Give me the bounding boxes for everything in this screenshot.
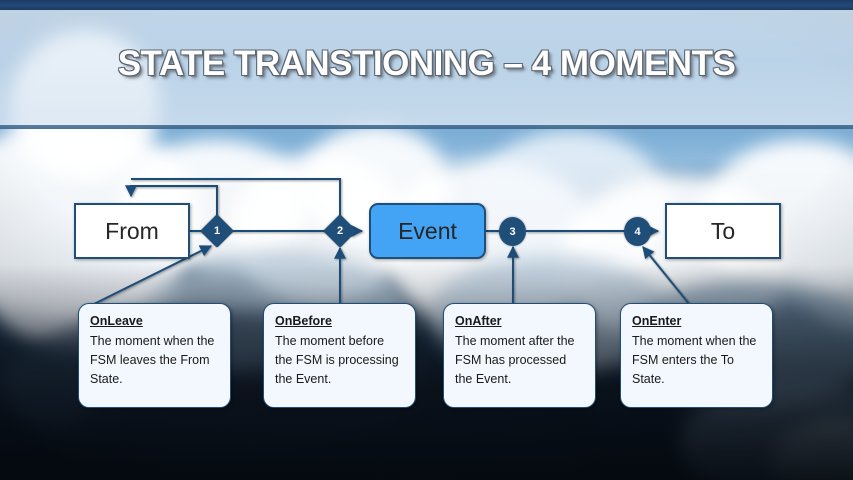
callout-onleave-title: OnLeave (90, 312, 219, 331)
callout-onbefore-title: OnBefore (275, 312, 404, 331)
callout-onafter[interactable]: OnAfter The moment after the FSM has pro… (443, 303, 596, 408)
marker-4-label: 4 (634, 226, 640, 238)
callout-onafter-title: OnAfter (455, 312, 584, 331)
callout-onenter[interactable]: OnEnter The moment when the FSM enters t… (620, 303, 773, 408)
marker-3[interactable]: 3 (499, 217, 526, 246)
callout-onleave[interactable]: OnLeave The moment when the FSM leaves t… (78, 303, 231, 408)
marker-4[interactable]: 4 (624, 217, 651, 246)
marker-3-label: 3 (509, 226, 515, 238)
callout-onbefore[interactable]: OnBefore The moment before the FSM is pr… (263, 303, 416, 408)
marker-1-label: 1 (214, 225, 220, 237)
node-event-label: Event (398, 218, 457, 245)
callout-onenter-body: The moment when the FSM enters the To St… (632, 332, 761, 389)
node-to[interactable]: To (665, 203, 781, 259)
marker-2-label: 2 (337, 225, 343, 237)
callout-onafter-body: The moment after the FSM has processed t… (455, 332, 584, 389)
node-to-label: To (711, 218, 735, 245)
callout-onbefore-body: The moment before the FSM is processing … (275, 332, 404, 389)
node-event[interactable]: Event (369, 203, 486, 259)
node-from-label: From (105, 218, 159, 245)
slide-canvas: STATE TRANSTIONING – 4 MOMENTS (0, 0, 853, 480)
node-from[interactable]: From (74, 203, 190, 259)
callout-onleave-body: The moment when the FSM leaves the From … (90, 332, 219, 389)
callout-onenter-title: OnEnter (632, 312, 761, 331)
